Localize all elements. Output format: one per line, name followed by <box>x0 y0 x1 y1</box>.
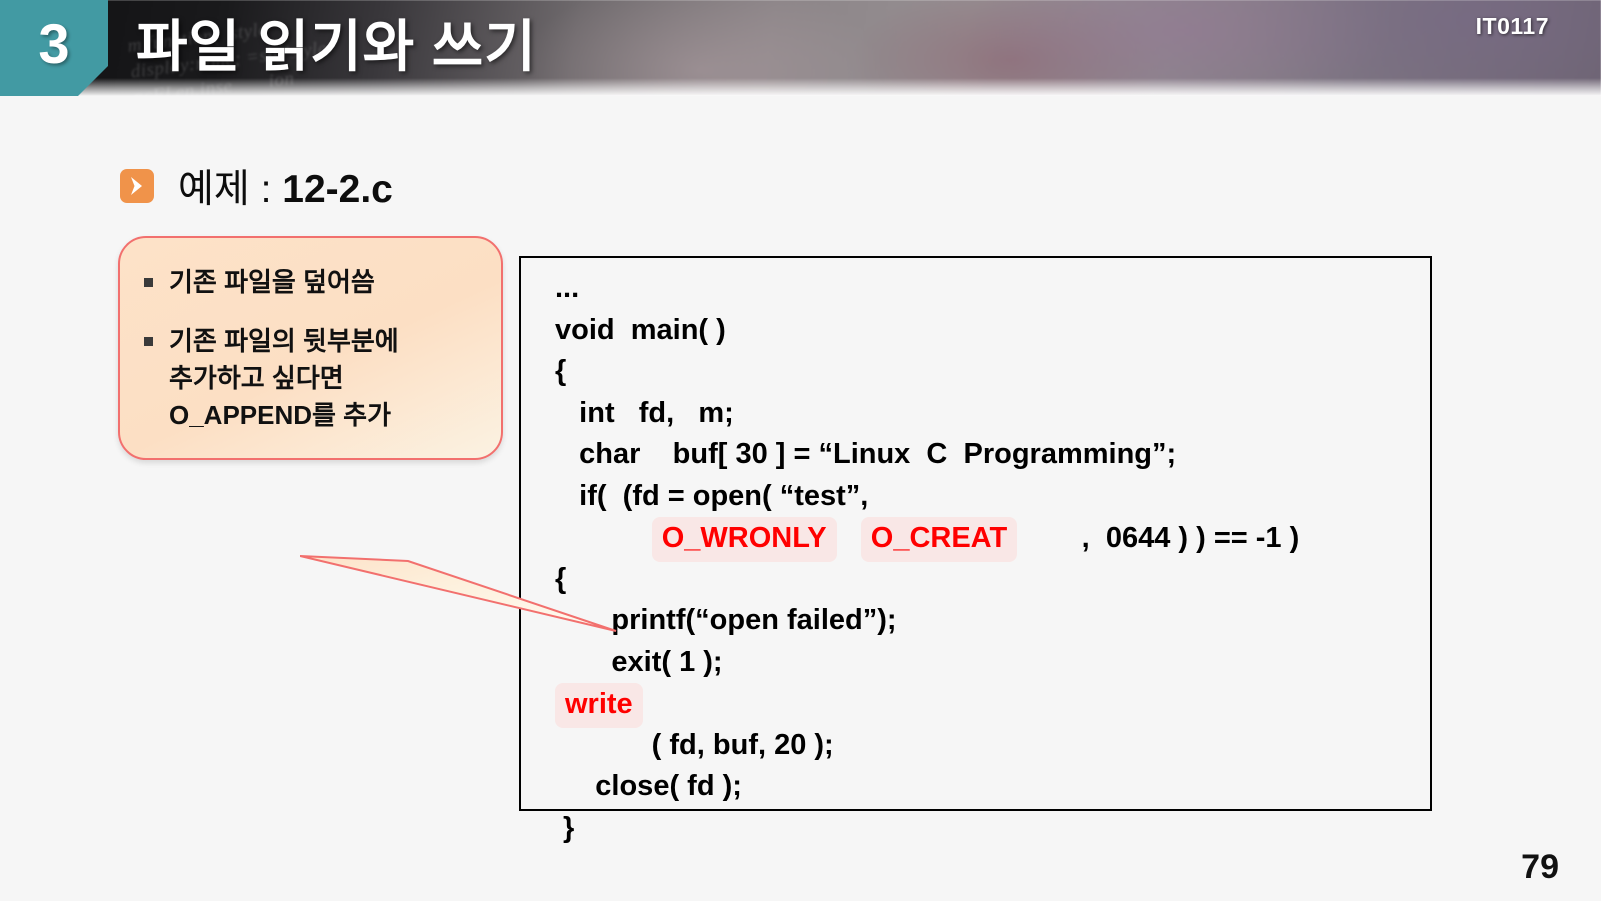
code-line-text: close( fd ); <box>555 770 742 802</box>
code-line-text: void main( ) <box>555 314 726 346</box>
code-highlight-token: write <box>555 683 643 728</box>
code-line: { <box>555 351 1595 393</box>
code-line: printf(“open failed”); <box>555 600 1595 642</box>
code-line: } <box>555 808 1595 850</box>
callout-item: 기존 파일을 덮어씀 <box>144 264 483 301</box>
code-line: ( fd, buf, 20 ); <box>555 725 1595 767</box>
subtitle-row: 예제 : 12-2.c <box>120 158 393 214</box>
page-number: 79 <box>1521 848 1559 887</box>
callout-box: 기존 파일을 덮어씀 기존 파일의 뒷부분에 추가하고 싶다면 O_APPEND… <box>118 236 503 460</box>
code-block-text: ...void main( ){ int fd, m; char buf[ 30… <box>555 268 1595 849</box>
chevron-right-icon <box>120 169 154 203</box>
course-code-label: IT0117 <box>1476 13 1549 40</box>
square-bullet-icon <box>144 337 153 346</box>
code-line-text <box>555 522 652 554</box>
code-line-text <box>837 522 861 554</box>
subtitle-filename: 12-2.c <box>282 168 393 211</box>
code-line-text: char buf[ 30 ] = “Linux C Programming”; <box>555 438 1176 470</box>
code-line: }write <box>555 683 1595 725</box>
code-highlight-token: O_WRONLY <box>652 517 837 562</box>
code-line: if( (fd = open( “test”, <box>555 476 1595 518</box>
code-line: int fd, m; <box>555 393 1595 435</box>
code-line: close( fd ); <box>555 766 1595 808</box>
code-line-text: int fd, m; <box>555 397 734 429</box>
page-title: 파일 읽기와 쓰기 <box>136 2 537 83</box>
code-line-text: printf(“open failed”); <box>555 604 897 636</box>
slide-header: m function( style display:none; =sbr'sty… <box>0 0 1601 96</box>
section-number-label: 3 <box>0 0 108 88</box>
code-line: char buf[ 30 ] = “Linux C Programming”; <box>555 434 1595 476</box>
slide-body: 예제 : 12-2.c 기존 파일을 덮어씀 기존 파일의 뒷부분에 추가하고 … <box>0 96 1601 901</box>
code-line-text: if( (fd = open( “test”, <box>555 480 868 512</box>
code-line: { <box>555 559 1595 601</box>
callout-item-label: 기존 파일의 뒷부분에 추가하고 싶다면 O_APPEND를 추가 <box>169 323 399 434</box>
code-line-text: exit( 1 ); <box>555 646 723 678</box>
subtitle-label: 예제 : 12-2.c <box>178 158 393 214</box>
code-line-text: , 0644 ) ) == -1 ) <box>1017 522 1299 554</box>
square-bullet-icon <box>144 278 153 287</box>
code-line: exit( 1 ); <box>555 642 1595 684</box>
code-line-text: } <box>555 812 574 844</box>
code-line: void main( ) <box>555 310 1595 352</box>
code-line: ... <box>555 268 1595 310</box>
callout-item: 기존 파일의 뒷부분에 추가하고 싶다면 O_APPEND를 추가 <box>144 323 483 434</box>
code-line: O_WRONLY O_CREAT , 0644 ) ) == -1 ) <box>555 517 1595 559</box>
code-line-text: ... <box>555 272 579 304</box>
subtitle-korean: 예제 : <box>178 168 282 211</box>
code-line-text: { <box>555 355 566 387</box>
code-highlight-token: O_CREAT <box>861 517 1017 562</box>
code-line-text: { <box>555 563 566 595</box>
code-line-text: ( fd, buf, 20 ); <box>555 729 834 761</box>
callout-item-label: 기존 파일을 덮어씀 <box>169 264 375 301</box>
